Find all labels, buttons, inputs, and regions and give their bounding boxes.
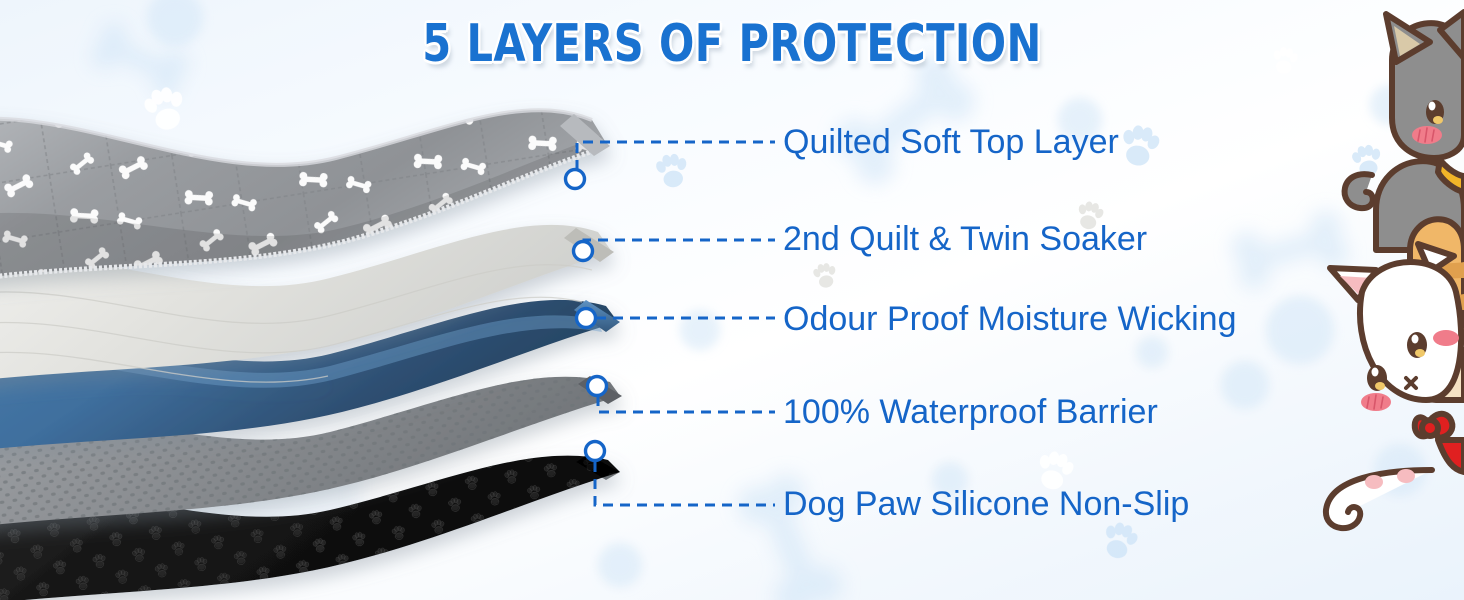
layer-label-1: Quilted Soft Top Layer	[783, 123, 1119, 162]
layer-label-2: 2nd Quilt & Twin Soaker	[783, 220, 1147, 259]
callout-line-2	[584, 240, 775, 243]
layer-marker-3	[577, 309, 596, 328]
layer-marker-2	[574, 242, 593, 261]
callout-line-4	[598, 396, 775, 412]
callout-line-5	[595, 462, 775, 505]
gray-cat	[1345, 12, 1464, 250]
cat-mascots	[1314, 0, 1464, 600]
white-cat	[1326, 244, 1464, 528]
layer-marker-4	[588, 377, 607, 396]
layer-marker-1	[566, 170, 585, 189]
callout-line-1	[577, 142, 775, 170]
callout-lines-svg	[0, 0, 1464, 600]
layer-label-4: 100% Waterproof Barrier	[783, 393, 1158, 432]
cat-mascots-svg	[1314, 0, 1464, 600]
layer-marker-5	[586, 442, 605, 461]
layer-label-5: Dog Paw Silicone Non-Slip	[783, 485, 1189, 524]
infographic-canvas: 5 LAYERS OF PROTECTION	[0, 0, 1464, 600]
layer-label-3: Odour Proof Moisture Wicking	[783, 300, 1237, 339]
layer-callouts: Quilted Soft Top Layer 2nd Quilt & Twin …	[0, 0, 1464, 600]
